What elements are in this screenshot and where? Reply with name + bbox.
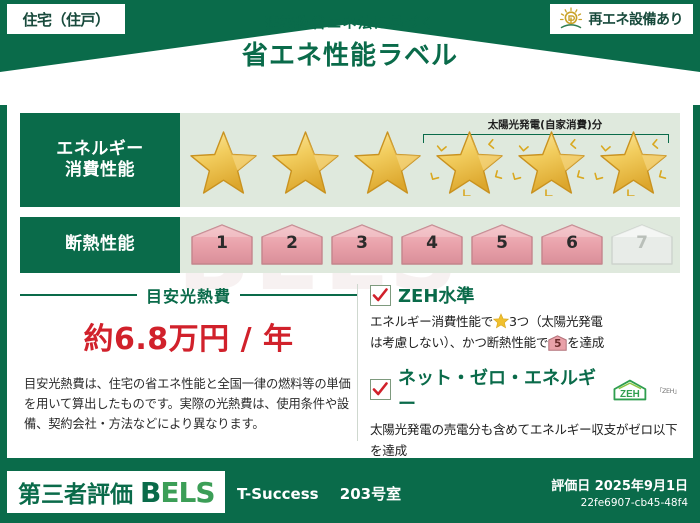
insulation-level-number: 4 bbox=[398, 233, 466, 253]
insulation-performance-label: 断熱性能 bbox=[20, 217, 180, 273]
utility-cost-value: 約6.8万円 / 年 bbox=[20, 314, 357, 358]
insulation-performance-row: 断熱性能 1234567 bbox=[20, 217, 680, 273]
bels-certification-plate: 第三者評価 B ELS bbox=[7, 471, 225, 513]
evaluation-meta: 評価日 2025年9月1日 22fe6907-cb45-48f4 bbox=[551, 475, 688, 509]
star-glyph bbox=[430, 124, 509, 196]
energy-star-rating bbox=[180, 113, 680, 207]
insulation-level-5: 5 bbox=[468, 223, 536, 267]
net-zero-header: ネット・ゼロ・エネルギー ZEH 「ZEH」 bbox=[370, 364, 680, 416]
insulation-label-text: 断熱性能 bbox=[65, 234, 135, 255]
label-title-block: 建築物省エネ法に基づく 省エネ性能ラベル bbox=[0, 12, 700, 72]
zeh-desc-part3: を達成 bbox=[567, 335, 604, 350]
insulation-levels-area: 1234567 bbox=[180, 217, 680, 273]
zeh-logo-icon: ZEH bbox=[611, 378, 649, 402]
bels-logo-els: ELS bbox=[160, 476, 214, 509]
zeh-standard-header: ZEH水準 bbox=[370, 282, 680, 308]
main-card: BELS エネルギー 消費性能 太陽光発電(自家消費)分 断熱性能 123456… bbox=[7, 100, 693, 458]
insulation-level-6: 6 bbox=[538, 223, 606, 267]
energy-label-line2: 消費性能 bbox=[65, 160, 135, 181]
insulation-level-number: 2 bbox=[258, 233, 326, 253]
insulation-level-4: 4 bbox=[398, 223, 466, 267]
insulation-level-number: 3 bbox=[328, 233, 396, 253]
net-zero-title: ネット・ゼロ・エネルギー bbox=[398, 364, 602, 416]
check-icon bbox=[371, 286, 390, 305]
utility-cost-heading: 目安光熱費 bbox=[20, 283, 357, 307]
room-number: 203号室 bbox=[340, 485, 401, 503]
column-divider bbox=[357, 284, 358, 441]
insulation-level-number: 6 bbox=[538, 233, 606, 253]
evaluation-date: 評価日 2025年9月1日 bbox=[551, 475, 688, 494]
star-5 bbox=[512, 124, 591, 196]
property-name: T-Success bbox=[237, 485, 319, 503]
insulation-level-3: 3 bbox=[328, 223, 396, 267]
certificate-id: 22fe6907-cb45-48f4 bbox=[551, 497, 688, 509]
title-main: 省エネ性能ラベル bbox=[0, 35, 700, 72]
net-zero-description: 太陽光発電の売電分も含めてエネルギー収支がゼロ以下を達成 bbox=[370, 420, 680, 462]
zeh-desc-part1: エネルギー消費性能で bbox=[370, 314, 493, 329]
bels-logo-b: B bbox=[140, 476, 160, 509]
star-icon-inline bbox=[493, 313, 509, 329]
heading-rule-right bbox=[240, 294, 357, 296]
zeh-standard-description: エネルギー消費性能で3つ（太陽光発電 は考慮しない）、かつ断熱性能で5を達成 bbox=[370, 312, 680, 354]
footer-bar: 第三者評価 B ELS T-Success 203号室 評価日 2025年9月1… bbox=[0, 463, 700, 523]
insulation-level-2: 2 bbox=[258, 223, 326, 267]
star-glyph bbox=[348, 124, 427, 196]
zeh-desc-stars: 3つ（太陽光発電 bbox=[509, 314, 603, 329]
zeh-standard-checkbox bbox=[370, 285, 391, 306]
energy-performance-label: エネルギー 消費性能 bbox=[20, 113, 180, 207]
star-1 bbox=[184, 124, 263, 196]
star-glyph bbox=[184, 124, 263, 196]
check-icon bbox=[371, 380, 390, 399]
insulation-level-number: 1 bbox=[188, 233, 256, 253]
insulation-badge-value: 5 bbox=[548, 336, 567, 353]
star-6 bbox=[594, 124, 673, 196]
energy-stars-area: 太陽光発電(自家消費)分 bbox=[180, 113, 680, 207]
zeh-standard-title: ZEH水準 bbox=[398, 282, 474, 308]
insulation-level-number: 5 bbox=[468, 233, 536, 253]
certification-panel: ZEH水準 エネルギー消費性能で3つ（太陽光発電 は考慮しない）、かつ断熱性能で… bbox=[368, 280, 680, 445]
utility-cost-panel: 目安光熱費 約6.8万円 / 年 目安光熱費は、住宅の省エネ性能と全国一律の燃料… bbox=[20, 280, 357, 445]
star-3 bbox=[348, 124, 427, 196]
net-zero-checkbox bbox=[370, 379, 391, 400]
insulation-level-7: 7 bbox=[608, 223, 676, 267]
star-2 bbox=[266, 124, 345, 196]
star-glyph bbox=[594, 124, 673, 196]
svg-text:ZEH: ZEH bbox=[620, 389, 640, 400]
energy-performance-row: エネルギー 消費性能 太陽光発電(自家消費)分 bbox=[20, 113, 680, 207]
star-4 bbox=[430, 124, 509, 196]
insulation-badge-inline: 5 bbox=[548, 335, 567, 351]
energy-label-line1: エネルギー bbox=[56, 139, 144, 160]
zeh-logo-caption: 「ZEH」 bbox=[656, 385, 680, 395]
insulation-level-scale: 1234567 bbox=[180, 217, 680, 273]
third-party-eval-label: 第三者評価 bbox=[18, 475, 133, 509]
insulation-level-number: 7 bbox=[608, 233, 676, 253]
utility-cost-note: 目安光熱費は、住宅の省エネ性能と全国一律の燃料等の単価を用いて算出したものです。… bbox=[20, 375, 357, 435]
lower-section: 目安光熱費 約6.8万円 / 年 目安光熱費は、住宅の省エネ性能と全国一律の燃料… bbox=[20, 280, 680, 445]
star-glyph bbox=[512, 124, 591, 196]
heading-rule-left bbox=[20, 294, 137, 296]
title-subtitle: 建築物省エネ法に基づく bbox=[0, 12, 700, 33]
zeh-desc-part2: は考慮しない）、かつ断熱性能で bbox=[370, 335, 548, 350]
utility-cost-heading-text: 目安光熱費 bbox=[146, 283, 231, 307]
star-glyph bbox=[266, 124, 345, 196]
property-info: T-Success 203号室 bbox=[237, 483, 401, 504]
insulation-level-1: 1 bbox=[188, 223, 256, 267]
